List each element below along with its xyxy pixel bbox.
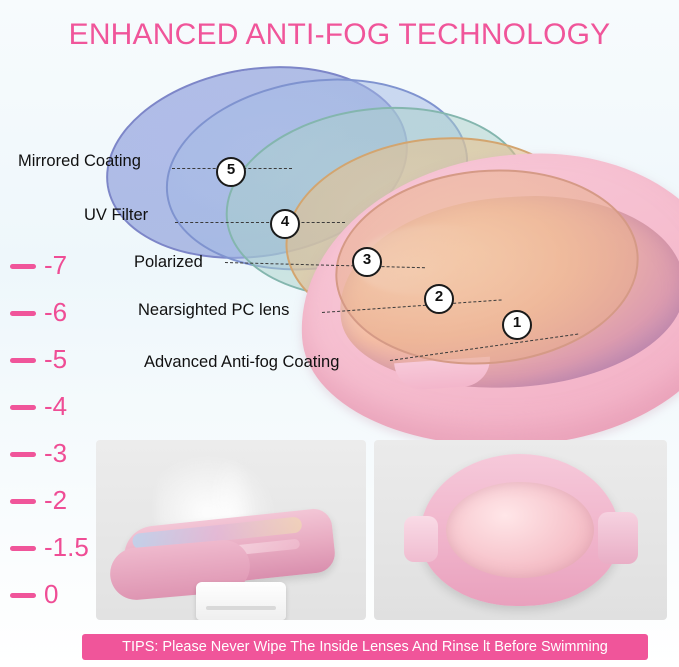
callout-label-polarized: Polarized (134, 253, 203, 272)
callout-label-advanced-anti-fog-coating: Advanced Anti-fog Coating (144, 353, 339, 372)
scale-dash-icon (10, 358, 36, 363)
scale-row: -3 (6, 438, 96, 485)
callout-label-nearsighted-pc-lens: Nearsighted PC lens (138, 301, 289, 320)
photo-anti-fog-smoke-test (96, 440, 366, 620)
scale-row: -1.5 (6, 532, 96, 579)
scale-value: -2 (44, 485, 67, 516)
tips-banner: TIPS: Please Never Wipe The Inside Lense… (82, 634, 648, 660)
scale-row: 0 (6, 579, 96, 626)
goggle-lens-diagram (95, 60, 679, 430)
smoke-generator (196, 582, 286, 620)
scale-row: -4 (6, 391, 96, 438)
scale-dash-icon (10, 452, 36, 457)
scale-dash-icon (10, 593, 36, 598)
strap-clip-left (404, 516, 438, 562)
leader-line-4 (175, 222, 345, 223)
scale-row: -5 (6, 344, 96, 391)
burner-slot (206, 606, 276, 610)
scale-row: -2 (6, 485, 96, 532)
scale-dash-icon (10, 546, 36, 551)
scale-dash-icon (10, 264, 36, 269)
page-title: ENHANCED ANTI-FOG TECHNOLOGY (0, 18, 679, 52)
scale-dash-icon (10, 311, 36, 316)
scale-value: -1.5 (44, 532, 89, 563)
callout-bullet-5: 5 (216, 157, 246, 187)
scale-value: -3 (44, 438, 67, 469)
scale-value: -4 (44, 391, 67, 422)
strap-clip-right (598, 512, 638, 564)
callout-label-uv-filter: UV Filter (84, 206, 148, 225)
scale-value: 0 (44, 579, 58, 610)
callout-bullet-4: 4 (270, 209, 300, 239)
callout-label-mirrored-coating: Mirrored Coating (18, 152, 141, 171)
photo-goggle-top-view (374, 440, 667, 620)
product-infographic: ENHANCED ANTI-FOG TECHNOLOGY -7 -6 -5 -4… (0, 0, 679, 667)
goggle-top-view (420, 454, 620, 606)
callout-bullet-2: 2 (424, 284, 454, 314)
scale-value: -6 (44, 297, 67, 328)
scale-dash-icon (10, 405, 36, 410)
scale-row: -7 (6, 250, 96, 297)
goggle-inner-lens (446, 482, 594, 578)
scale-row: -6 (6, 297, 96, 344)
scale-dash-icon (10, 499, 36, 504)
diopter-scale: -7 -6 -5 -4 -3 -2 -1.5 0 (6, 250, 96, 630)
callout-bullet-3: 3 (352, 247, 382, 277)
scale-value: -5 (44, 344, 67, 375)
scale-value: -7 (44, 250, 67, 281)
callout-bullet-1: 1 (502, 310, 532, 340)
